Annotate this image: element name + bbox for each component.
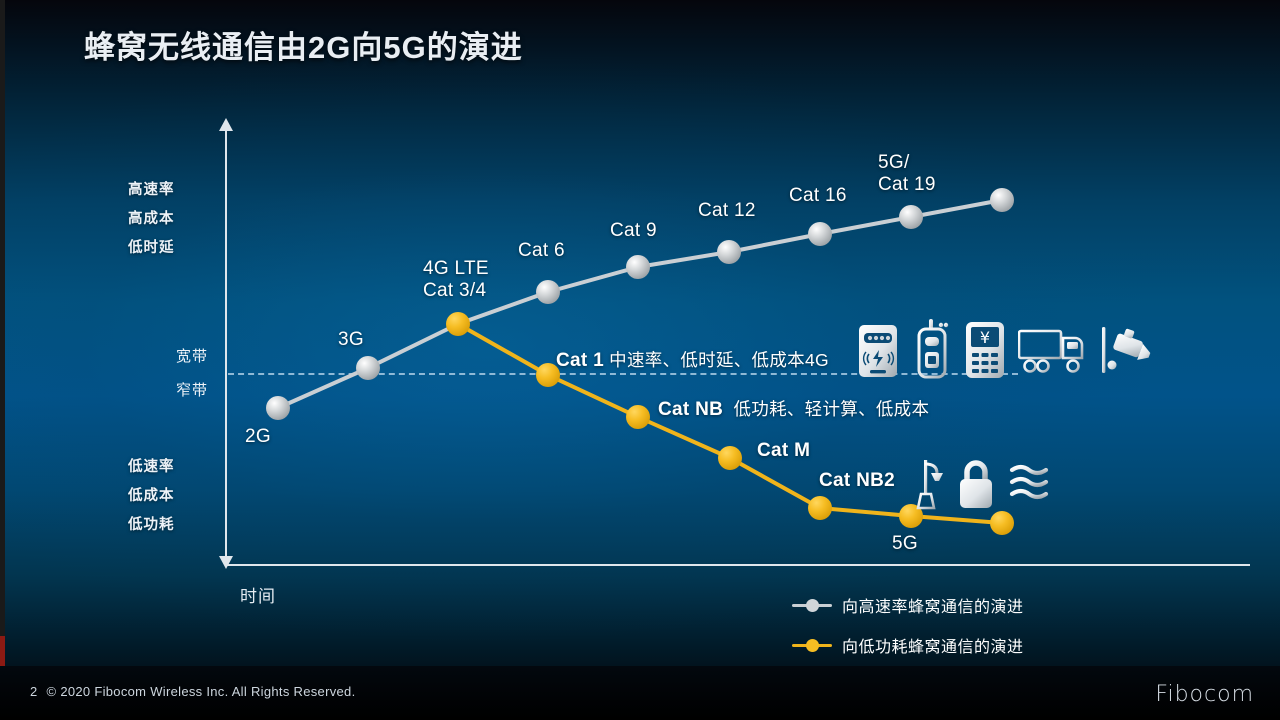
water-meter-icon <box>1008 462 1050 511</box>
label-cat-12: Cat 12 <box>698 200 756 222</box>
high-tier-annotation: 高速率 高成本 低时延 <box>128 176 175 263</box>
label-5g-low: 5G <box>892 533 918 555</box>
data-point-node[interactable] <box>626 255 650 279</box>
data-point-node[interactable] <box>717 240 741 264</box>
x-axis-arrow-icon <box>219 556 233 569</box>
label-cat-m: Cat M <box>757 440 810 462</box>
low-tier-annotation: 低速率 低成本 低功耗 <box>128 453 175 540</box>
data-point-node[interactable] <box>446 312 470 336</box>
data-point-node[interactable] <box>899 205 923 229</box>
label-cat-16: Cat 16 <box>789 185 847 207</box>
cctv-camera-icon <box>1100 325 1154 380</box>
low-tier-line-1: 低速率 <box>128 453 175 482</box>
label-4g-lte-line2: Cat 3/4 <box>423 280 489 302</box>
truck-icon <box>1018 328 1090 379</box>
narrowband-label: 窄带 <box>176 374 208 408</box>
data-point-node[interactable] <box>990 188 1014 212</box>
label-cat-9: Cat 9 <box>610 220 657 242</box>
label-5g-cat-19: 5G/ Cat 19 <box>878 152 936 196</box>
label-2g: 2G <box>245 426 271 448</box>
svg-text:¥: ¥ <box>980 328 990 347</box>
fibocom-logo: Fibocom <box>1155 682 1254 707</box>
chart-legend: 向高速率蜂窝通信的演进 向低功耗蜂窝通信的演进 <box>792 585 1024 665</box>
smart-meter-icon <box>856 323 900 384</box>
walkie-talkie-icon <box>915 318 951 385</box>
y-axis-line <box>225 128 227 565</box>
data-point-node[interactable] <box>808 222 832 246</box>
left-edge-bar <box>0 0 5 720</box>
label-5g-cat19-line2: Cat 19 <box>878 174 936 196</box>
label-4g-lte-cat34: 4G LTE Cat 3/4 <box>423 258 489 302</box>
legend-item-high-speed[interactable]: 向高速率蜂窝通信的演进 <box>792 585 1024 625</box>
legend-label-low-power: 向低功耗蜂窝通信的演进 <box>842 633 1024 657</box>
pos-terminal-icon: ¥ <box>964 320 1006 385</box>
copyright-text: © 2020 Fibocom Wireless Inc. All Rights … <box>47 684 356 699</box>
low-tier-line-3: 低功耗 <box>128 511 175 540</box>
legend-item-low-power[interactable]: 向低功耗蜂窝通信的演进 <box>792 625 1024 665</box>
legend-label-high-speed: 向高速率蜂窝通信的演进 <box>842 593 1024 617</box>
label-cat-nb: Cat NB 低功耗、轻计算、低成本 <box>658 398 929 421</box>
label-4g-lte-line1: 4G LTE <box>423 258 489 280</box>
data-point-node[interactable] <box>536 280 560 304</box>
x-axis-label: 时间 <box>240 582 276 607</box>
bandwidth-tier-annotation: 宽带 窄带 <box>176 340 208 408</box>
data-point-node[interactable] <box>266 396 290 420</box>
legend-swatch-gray <box>792 598 832 612</box>
legend-swatch-gold <box>792 638 832 652</box>
data-point-node[interactable] <box>356 356 380 380</box>
high-tier-line-2: 高成本 <box>128 205 175 234</box>
cat-1-description: 中速率、低时延、低成本4G <box>609 350 829 370</box>
low-tier-line-2: 低成本 <box>128 482 175 511</box>
label-cat-6: Cat 6 <box>518 240 565 262</box>
broadband-label: 宽带 <box>176 340 208 374</box>
y-axis-arrow-icon <box>219 118 233 131</box>
footer-copyright: 2© 2020 Fibocom Wireless Inc. All Rights… <box>30 684 355 699</box>
high-tier-line-3: 低时延 <box>128 234 175 263</box>
data-point-node[interactable] <box>718 446 742 470</box>
label-3g: 3G <box>338 329 364 351</box>
padlock-icon <box>955 456 997 515</box>
data-point-node[interactable] <box>808 496 832 520</box>
label-cat-nb2: Cat NB2 <box>819 470 895 492</box>
data-point-node[interactable] <box>626 405 650 429</box>
label-cat-1: Cat 1 中速率、低时延、低成本4G <box>556 349 829 372</box>
high-tier-line-1: 高速率 <box>128 176 175 205</box>
label-5g-cat19-line1: 5G/ <box>878 152 936 174</box>
cat-nb-description: 低功耗、轻计算、低成本 <box>733 399 929 419</box>
slide-canvas: 蜂窝无线通信由2G向5G的演进 时间 高速率 高成本 低时延 宽带 窄带 低速率… <box>0 0 1280 720</box>
page-title: 蜂窝无线通信由2G向5G的演进 <box>84 22 523 67</box>
street-lamp-icon <box>916 458 950 515</box>
page-number: 2 <box>30 684 38 699</box>
x-axis-line <box>225 564 1250 566</box>
